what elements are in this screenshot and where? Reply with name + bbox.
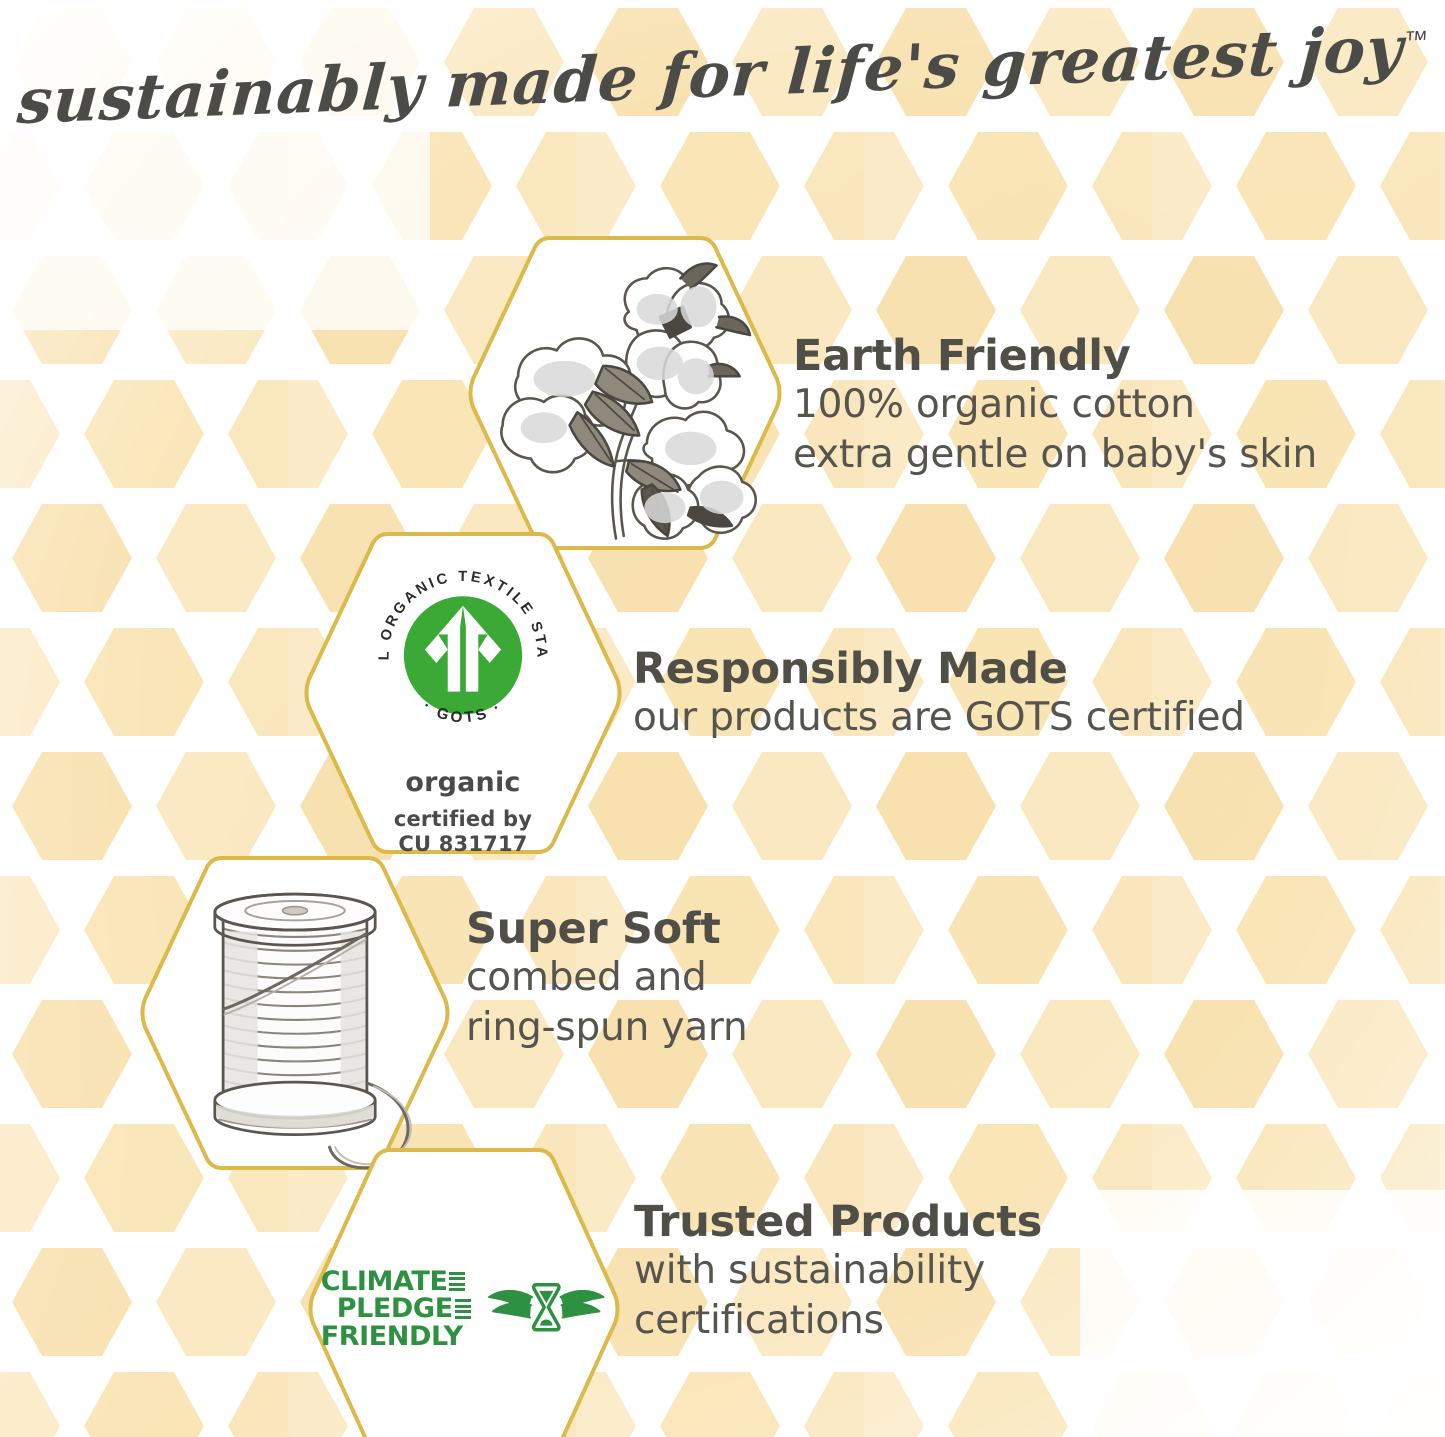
cpf-line-1: CLIMATE (321, 1268, 448, 1296)
gots-certification-icon: GLOBAL ORGANIC TEXTILE STANDARD · GOTS · (300, 560, 626, 751)
cpf-line-3: FRIENDLY (321, 1323, 463, 1351)
feature-title: Responsibly Made (633, 645, 1245, 693)
winged-hourglass-icon (485, 1268, 608, 1351)
cpf-bars-1 (449, 1272, 465, 1292)
hex-card-earth-friendly (464, 232, 786, 554)
feature-line: our products are GOTS certified (633, 693, 1245, 743)
feature-line: extra gentle on baby's skin (793, 430, 1317, 480)
feature-line: 100% organic cotton (793, 380, 1317, 430)
feature-line: combed and (466, 953, 748, 1003)
tagline-text: sustainably made for life's greatest joy (15, 12, 1406, 138)
feature-title: Super Soft (466, 905, 748, 953)
hex-card-trusted-products: CLIMATE PLEDGE FRIENDLY (304, 1144, 624, 1437)
cpf-line-2: PLEDGE (337, 1295, 453, 1323)
feature-text-super-soft: Super Soft combed and ring-spun yarn (466, 905, 748, 1053)
thread-spool-icon (136, 852, 454, 1174)
feature-line: ring-spun yarn (466, 1003, 748, 1053)
feature-text-trusted-products: Trusted Products with sustainability cer… (634, 1198, 1042, 1346)
hex-card-super-soft (136, 852, 454, 1174)
trademark-symbol: ™ (1403, 26, 1429, 54)
climate-pledge-friendly-icon: CLIMATE PLEDGE FRIENDLY (321, 1268, 608, 1351)
feature-line: with sustainability (634, 1246, 1042, 1296)
tagline: sustainably made for life's greatest joy… (0, 38, 1445, 111)
gots-organic-label: organic (405, 767, 520, 798)
cpf-bars-2 (455, 1299, 471, 1319)
cotton-plant-icon (464, 232, 786, 554)
gots-certified-by: certified by CU 831717 (394, 807, 532, 858)
feature-title: Trusted Products (634, 1198, 1042, 1246)
feature-line: certifications (634, 1296, 1042, 1346)
infographic-root: sustainably made for life's greatest joy… (0, 0, 1445, 1437)
gots-certified-by-label: certified by (394, 807, 532, 833)
hex-card-responsibly-made: GLOBAL ORGANIC TEXTILE STANDARD · GOTS ·… (300, 528, 626, 858)
feature-text-earth-friendly: Earth Friendly 100% organic cotton extra… (793, 332, 1317, 480)
feature-text-responsibly-made: Responsibly Made our products are GOTS c… (633, 645, 1245, 743)
feature-title: Earth Friendly (793, 332, 1317, 380)
